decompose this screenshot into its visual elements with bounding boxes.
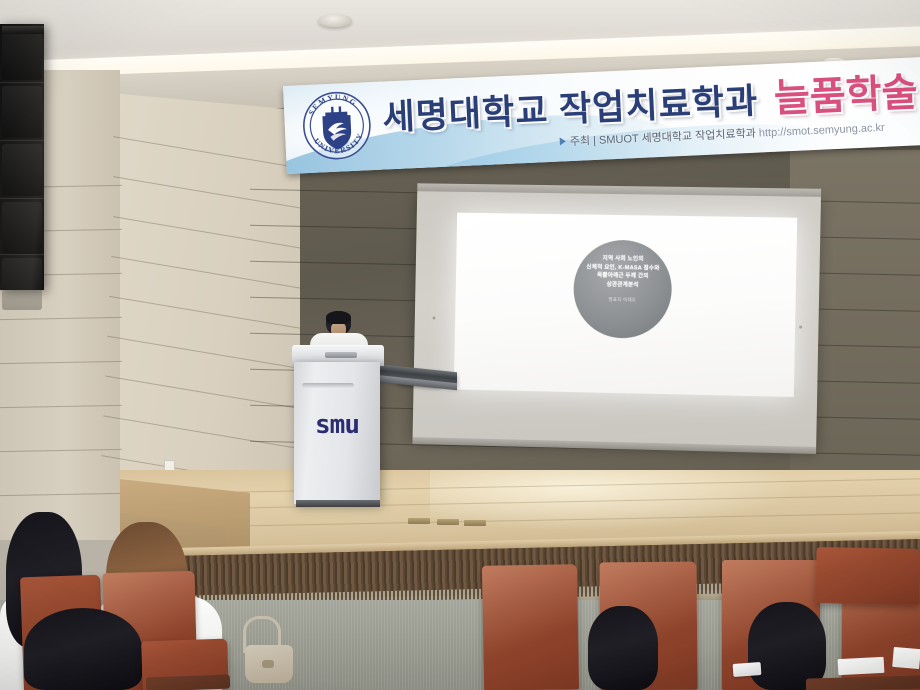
seat-highlight [482,564,579,690]
ceiling-speaker [318,14,352,27]
seat-back[interactable] [816,547,920,605]
podium-base [296,500,380,507]
auditorium-photo: SEMYUNG UNIVERSITY 세명대학교 작업치료학과 늘품학술 주최 … [0,0,920,690]
seat-armrest [146,675,230,690]
banner-subtitle-url: http://smot.semyung.ac.kr [759,122,885,140]
banner-title-highlight: 늘품학술 [773,61,919,123]
speaker-seam [0,82,44,83]
slide-line: 상관관계분석 [607,281,639,290]
speaker-grille [2,144,42,196]
smartphone[interactable] [733,662,762,677]
screen-eyelet [799,326,802,329]
projection-screen: 지역 사회 노인의 신체적 요인, K-MASA 점수와 목뿔아래근 두께 간의… [413,189,821,449]
audience-member-hair [24,608,142,690]
screen-eyelet [433,316,436,319]
podium-vent-slot [302,383,354,388]
line-array-speaker [0,24,44,290]
podium-handle [325,352,357,358]
speaker-seam [0,198,44,199]
presenter-hair [326,311,351,324]
speaker-seam [0,140,44,141]
projected-slide: 지역 사회 노인의 신체적 요인, K-MASA 점수와 목뿔아래근 두께 간의… [454,213,797,397]
speaker-grille [2,86,42,138]
speaker-grille [2,202,42,254]
speaker-seam [0,254,44,255]
podium-logo: smu [294,410,380,440]
slide-author: 발표자 이태호 [609,297,637,304]
handbag-clasp [262,660,274,668]
audience-member-hair [748,602,826,690]
stage-floor-outlet [408,518,430,524]
speaker-grille [2,258,42,310]
speaker-grille [2,28,42,80]
paper-handout[interactable] [838,657,885,675]
stage-floor-outlet [437,519,459,525]
seat-armrest [806,675,920,690]
paper-handout[interactable] [892,647,920,669]
banner-bullet-icon [560,137,566,145]
speaker-mount [2,26,44,34]
semyung-university-seal-icon: SEMYUNG UNIVERSITY [299,88,374,163]
slide-title-circle: 지역 사회 노인의 신체적 요인, K-MASA 점수와 목뿔아래근 두께 간의… [573,239,673,339]
stage-floor-outlet [464,520,486,526]
audience-member-hair [588,606,658,690]
